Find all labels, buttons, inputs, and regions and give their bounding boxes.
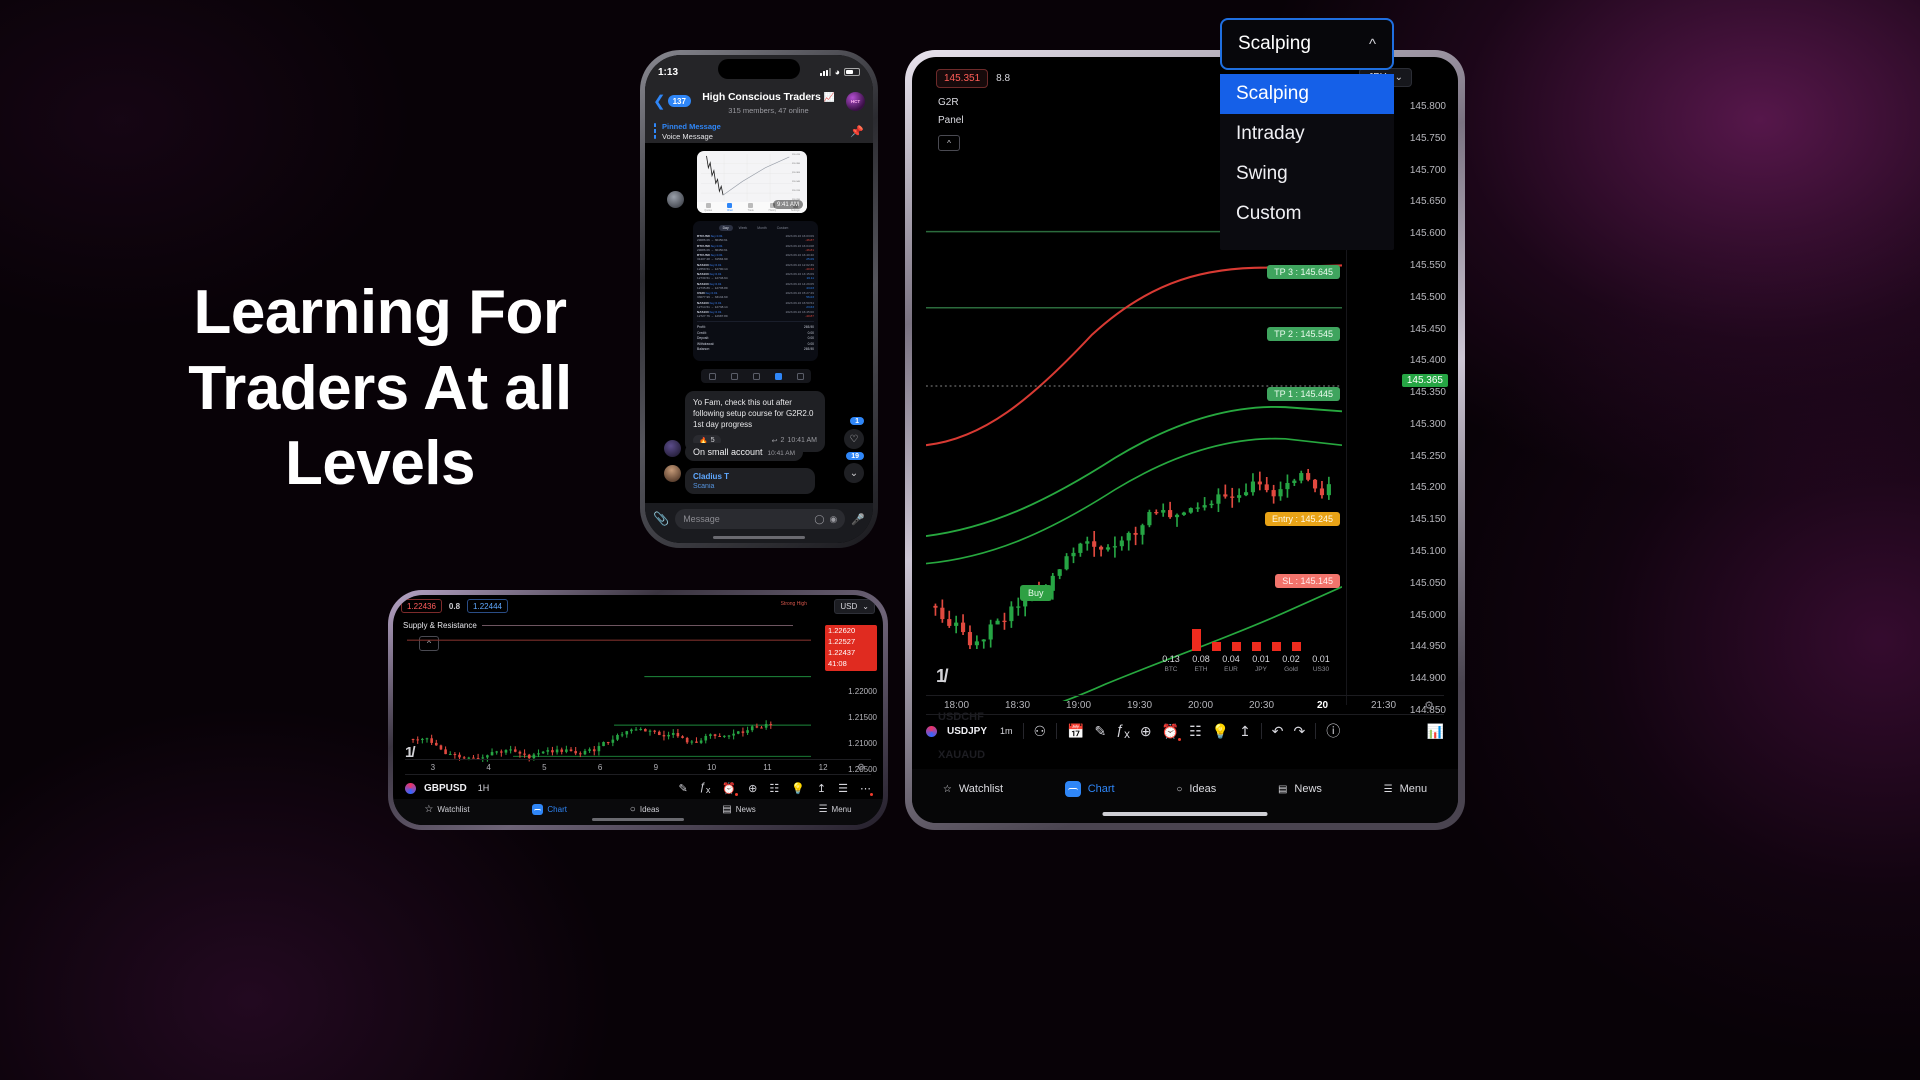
strength-bars: [1160, 629, 1332, 651]
timeframe[interactable]: 1m: [1000, 726, 1013, 736]
message-text: Yo Fam, check this out after following s…: [693, 397, 817, 430]
history-tabs: Day Week Month Custom: [693, 221, 818, 234]
chevron-down-icon: ⌄: [1395, 72, 1403, 83]
draw-icon[interactable]: ✎: [678, 782, 687, 795]
bid-price[interactable]: 1.22436: [401, 599, 442, 613]
phone-screen: 1.22436 0.8 1.22444 USD ⌄ Supply & Resis…: [393, 595, 883, 825]
time-label: 19:30: [1109, 700, 1170, 711]
signal-bars-icon: [820, 68, 831, 76]
message-input[interactable]: Message ◯ ◉: [675, 509, 845, 529]
axis-label: 151.315: [792, 190, 805, 192]
menu-icon: ☰: [1384, 784, 1393, 795]
layouts-icon[interactable]: ☷: [1189, 723, 1202, 740]
add-icon[interactable]: ⊕: [1140, 723, 1152, 740]
dropdown-selected-value: Scalping: [1238, 33, 1311, 55]
chat-header: ❮ 137 High Conscious Traders 📈 315 membe…: [645, 83, 873, 119]
time-label: 18:00: [926, 700, 987, 711]
axis-label: 145.800: [1410, 101, 1446, 112]
phone-screen: 1:13 ◕ ❮ 137 High Conscious Traders 📈 31…: [645, 55, 873, 543]
entry-label: Entry : 145.245: [1265, 512, 1340, 526]
history-tab: Month: [753, 225, 770, 231]
chevron-down-icon: ⌄: [862, 602, 869, 611]
spread-value: 8.8: [996, 73, 1010, 84]
star-icon: ☆: [424, 804, 433, 815]
candle-chart[interactable]: [407, 635, 811, 765]
symbol-flag-icon: [926, 726, 937, 737]
table-row: NAS100 buy 0.012023.06.16 16:50:5412714.…: [693, 301, 818, 309]
share-icon[interactable]: ↥: [817, 782, 826, 795]
nav-label: Chart: [547, 805, 567, 814]
axis-label: 145.150: [1410, 514, 1446, 525]
chat-title-text: High Conscious Traders: [702, 91, 821, 103]
add-icon[interactable]: ⊕: [748, 782, 757, 795]
headline-line-1: Learning For: [60, 275, 700, 351]
chart-icon: [1065, 781, 1081, 797]
axis-label: 144.900: [1410, 673, 1446, 684]
indicators-icon[interactable]: ƒx: [1116, 721, 1130, 741]
time-label: 12: [795, 763, 851, 772]
sticker-icon[interactable]: ◉: [829, 514, 837, 525]
calendar-icon[interactable]: 📅: [1067, 723, 1084, 740]
axis-label: 144.950: [1410, 641, 1446, 652]
strategy-dropdown[interactable]: Scalping ^ ScalpingIntradaySwingCustom: [1220, 18, 1394, 250]
share-icon[interactable]: ↥: [1239, 723, 1251, 740]
alert-price: 1.22527: [828, 637, 874, 648]
nav-item-menu[interactable]: ☰Menu: [819, 804, 852, 815]
nav-item-watchlist[interactable]: ☆Watchlist: [424, 804, 469, 815]
axis-label: 145.600: [1410, 228, 1446, 239]
undo-icon[interactable]: ↶: [1272, 723, 1284, 740]
tradingview-logo-icon: 1/: [936, 666, 946, 687]
chat-title-block[interactable]: High Conscious Traders 📈 315 members, 47…: [691, 87, 846, 115]
strength-value: 0.04: [1220, 654, 1242, 664]
nav-item-chart[interactable]: Chart: [532, 804, 567, 815]
microphone-icon[interactable]: 🎤: [851, 513, 865, 526]
strength-value: 0.08: [1190, 654, 1212, 664]
redo-icon[interactable]: ↷: [1294, 723, 1306, 740]
paperclip-icon[interactable]: 📎: [653, 511, 669, 527]
spread-value: 0.8: [449, 602, 460, 611]
time-label: 19:00: [1048, 700, 1109, 711]
symbol-name[interactable]: GBPUSD: [424, 783, 467, 794]
strength-key: BTC: [1160, 666, 1182, 673]
table-row: NAS100 buy 0.012023.06.16 12:02:3912659.…: [693, 263, 818, 271]
pin-icon[interactable]: 📌: [850, 125, 864, 138]
table-row: NAS100 buy 0.012023.06.16 16:45:0012727.…: [693, 310, 818, 318]
nav-item-watchlist[interactable]: ☆Watchlist: [943, 783, 1003, 795]
ideas-icon[interactable]: 💡: [791, 782, 805, 795]
dropdown-option-scalping[interactable]: Scalping: [1220, 74, 1394, 114]
pin-indicator: [654, 123, 656, 139]
strong-high-label: Strong High: [781, 601, 807, 607]
chat-bubble[interactable]: Cladius T Scania: [685, 468, 815, 494]
indicator-row[interactable]: Supply & Resistance: [403, 621, 793, 630]
pinned-label: Pinned Message: [662, 122, 850, 131]
price-axis[interactable]: 1.22620 1.22527 1.22437 41:08 1.22000 1.…: [815, 625, 877, 765]
history-tab: Custom: [773, 225, 793, 231]
chevron-left-icon: ❮: [653, 94, 666, 109]
nav-item-news[interactable]: ▤News: [722, 804, 755, 815]
axis-label: 145.000: [1410, 610, 1446, 621]
alert-icon[interactable]: ⏰: [722, 782, 736, 795]
strength-meter: 0.130.080.040.010.020.01 BTCETHEURJPYGol…: [1160, 629, 1332, 673]
axis-label: 145.650: [1410, 196, 1446, 207]
sl-label: SL : 145.145: [1275, 574, 1340, 588]
strength-value: 0.01: [1250, 654, 1272, 664]
time-axis[interactable]: 18:0018:3019:0019:3020:0020:302021:30⚙: [926, 695, 1444, 715]
chat-bubble[interactable]: On small account 10:41 AM: [685, 443, 803, 461]
strength-key: ETH: [1190, 666, 1212, 673]
slash-command-icon[interactable]: ◯: [814, 514, 824, 525]
axis-label: 145.700: [1410, 165, 1446, 176]
phone-chat-device: 1:13 ◕ ❮ 137 High Conscious Traders 📈 31…: [640, 50, 878, 548]
table-row: Profit:265.90: [693, 325, 818, 329]
axis-label: 151.415: [792, 154, 805, 156]
currency-label: USD: [840, 602, 857, 611]
chevron-up-icon: ^: [1369, 36, 1376, 53]
axis-label: 145.400: [1410, 355, 1446, 366]
back-button[interactable]: ❮ 137: [653, 94, 691, 109]
news-icon: ▤: [722, 804, 731, 815]
layouts-icon[interactable]: ☷: [769, 782, 779, 795]
time-label: 10: [684, 763, 740, 772]
symbol-flag-icon: [405, 783, 416, 794]
nav-label: Watchlist: [959, 783, 1003, 795]
dropdown-option-swing[interactable]: Swing: [1220, 154, 1394, 194]
alert-icon[interactable]: ⏰: [1162, 723, 1179, 740]
sender-name: Cladius T: [693, 472, 807, 481]
mini-tab: Chart: [727, 203, 733, 212]
message-text: On small account: [693, 447, 763, 457]
strength-value: 0.01: [1310, 654, 1332, 664]
news-icon: ▤: [1278, 784, 1287, 795]
nav-item-news[interactable]: ▤News: [1278, 783, 1322, 795]
ideas-icon[interactable]: 💡: [1212, 723, 1229, 740]
table-row: BTCUSD buy 0.012023.06.16 16:40:4031207.…: [693, 253, 818, 261]
history-rows: BTCUSD buy 0.012023.06.16 16:03:0929086.…: [693, 234, 818, 318]
nav-label: News: [1294, 783, 1322, 795]
avatar: [667, 191, 684, 208]
layouts-icon: [775, 373, 782, 380]
bottom-navigation[interactable]: ☆WatchlistChart○Ideas▤News☰Menu: [393, 799, 883, 825]
scroll-down-icon[interactable]: ⌄: [844, 463, 864, 483]
chart-emoji-icon: 📈: [824, 92, 835, 102]
draw-icon: [709, 373, 716, 380]
axis-label: 145.350: [1410, 387, 1446, 398]
history-totals: Profit:265.90Credit:0.00Deposit:0.00With…: [693, 325, 818, 351]
heart-badge: 1: [850, 417, 864, 425]
axis-label: 151.390: [792, 163, 805, 165]
bulb-icon: ○: [1176, 784, 1182, 795]
info-icon[interactable]: ⓘ: [1326, 721, 1340, 741]
ghost-symbol: XAUAUD: [938, 749, 985, 761]
message-image-history[interactable]: Day Week Month Custom BTCUSD buy 0.01202…: [693, 221, 818, 361]
message-placeholder: Message: [683, 514, 809, 524]
strength-key: EUR: [1220, 666, 1242, 673]
headline-line-2: Traders At all: [60, 351, 700, 427]
mini-toolbar: [701, 369, 811, 383]
indicators-icon: [731, 373, 738, 380]
time-label: 4: [461, 763, 517, 772]
group-avatar[interactable]: HCT: [846, 92, 865, 111]
phone-chart-device: 1.22436 0.8 1.22444 USD ⌄ Supply & Resis…: [388, 590, 888, 830]
history-tab: Week: [735, 225, 752, 231]
toolbar-icons: ✎ ƒx ⏰ ⊕ ☷ 💡 ↥ ☰ ⋯: [678, 781, 871, 795]
star-icon: ☆: [943, 784, 952, 795]
chat-message-list[interactable]: 151.415 151.390 151.365 151.340 151.315 …: [645, 143, 873, 503]
axis-label: 151.340: [792, 181, 805, 183]
settings-icon: [797, 373, 804, 380]
nav-label: News: [736, 805, 756, 814]
live-price-label: 145.365: [1402, 374, 1448, 387]
countdown: 41:08: [828, 659, 874, 670]
axis-label: 1.21500: [848, 713, 877, 722]
message-image-chart[interactable]: 151.415 151.390 151.365 151.340 151.315 …: [697, 151, 807, 213]
indicator-label: Supply & Resistance: [403, 621, 477, 630]
notch: [718, 59, 800, 79]
pinned-message-bar[interactable]: Pinned Message Voice Message 📌: [645, 119, 873, 143]
table-row: NAS100 buy 0.012023.06.16 14:29:0512735.…: [693, 282, 818, 290]
axis-label: 145.500: [1410, 292, 1446, 303]
timeframe[interactable]: 1H: [478, 783, 490, 793]
indicator-line: [482, 625, 793, 626]
strength-keys: BTCETHEURJPYGoldUS30: [1160, 666, 1332, 673]
nav-item-chart[interactable]: Chart: [1065, 781, 1115, 797]
history-tab: Day: [719, 225, 733, 231]
chart-icon: [532, 804, 543, 815]
bulb-icon: ○: [630, 804, 636, 815]
avatar: [664, 440, 681, 457]
table-row: BTCUSD buy 0.012023.06.16 16:03:0929086.…: [693, 234, 818, 242]
time-label: 20: [1292, 700, 1353, 711]
chart-toolbar: USDJPY 1m ⚇ 📅 ✎ ƒx ⊕ ⏰ ☷ 💡 ↥ ↶ ↷ ⓘ 📊: [926, 717, 1444, 745]
table-row: Deposit:0.00: [693, 336, 818, 340]
symbol-name[interactable]: USDJPY: [947, 726, 987, 737]
chart-top-bar: 1.22436 0.8 1.22444 USD ⌄: [393, 595, 883, 617]
nav-label: Menu: [832, 805, 852, 814]
currency-selector[interactable]: USD ⌄: [834, 599, 875, 614]
axis-label: 145.550: [1410, 260, 1446, 271]
compare-icon[interactable]: ☰: [838, 782, 848, 795]
time-label: 20:00: [1170, 700, 1231, 711]
mini-tab: Trade: [748, 203, 754, 212]
alert-icon: [753, 373, 760, 380]
axis-label: 151.365: [792, 172, 805, 174]
message-time: 9:41 AM: [773, 200, 803, 209]
table-row: US30 buy 0.012023.06.16 15:27:4933077.99…: [693, 291, 818, 299]
avatar: [664, 465, 681, 482]
axis-label: 1.22000: [848, 687, 877, 696]
axis-label: 145.250: [1410, 451, 1446, 462]
draw-icon[interactable]: ✎: [1095, 723, 1107, 740]
pin-text: Pinned Message Voice Message: [662, 122, 850, 141]
chart-toolbar: GBPUSD 1H ✎ ƒx ⏰ ⊕ ☷ 💡 ↥ ☰ ⋯: [405, 777, 871, 799]
nav-item-menu[interactable]: ☰Menu: [1384, 783, 1428, 795]
home-indicator: [1103, 812, 1268, 816]
indicators-icon[interactable]: ƒx: [700, 781, 711, 795]
axis-label: 145.100: [1410, 546, 1446, 557]
axis-label: 145.750: [1410, 133, 1446, 144]
axis-label: 145.200: [1410, 482, 1446, 493]
message-time: 10:41 AM: [768, 450, 795, 457]
strength-key: JPY: [1250, 666, 1272, 673]
nav-label: Ideas: [1189, 783, 1216, 795]
chat-title: High Conscious Traders 📈: [702, 91, 835, 103]
time-axis[interactable]: 34569101112⚙: [405, 759, 871, 775]
axis-label: 145.050: [1410, 578, 1446, 589]
tp3-label: TP 3 : 145.645: [1267, 265, 1340, 279]
nav-label: Menu: [1400, 783, 1428, 795]
tp1-label: TP 1 : 145.445: [1267, 387, 1340, 401]
buy-signal-badge: Buy: [1020, 585, 1052, 601]
nav-label: Ideas: [640, 805, 660, 814]
alert-price: 1.22620: [828, 626, 874, 637]
time-label: 20:30: [1231, 700, 1292, 711]
dropdown-option-custom[interactable]: Custom: [1220, 194, 1394, 234]
dropdown-option-intraday[interactable]: Intraday: [1220, 114, 1394, 154]
more-icon[interactable]: ⋯: [860, 782, 871, 795]
strength-value: 0.13: [1160, 654, 1182, 664]
unread-badge: 137: [668, 95, 691, 107]
time-label: 5: [517, 763, 573, 772]
time-label: 6: [572, 763, 628, 772]
chat-subtitle: 315 members, 47 online: [691, 106, 846, 115]
wifi-icon: ◕: [835, 67, 840, 77]
settings-icon[interactable]: ⚙: [851, 762, 871, 773]
current-price[interactable]: 145.351: [936, 69, 988, 88]
ask-price[interactable]: 1.22444: [467, 599, 508, 613]
mini-tab: Quotes: [704, 203, 712, 212]
price-header: 145.351 8.8: [936, 69, 1010, 88]
time-label: 11: [740, 763, 796, 772]
nav-label: Chart: [1088, 783, 1115, 795]
time-label: 9: [628, 763, 684, 772]
strength-values: 0.130.080.040.010.020.01: [1160, 654, 1332, 664]
message-preview: Scania: [693, 483, 807, 490]
strength-key: Gold: [1280, 666, 1302, 673]
mini-chart-axis: 151.415 151.390 151.365 151.340 151.315 …: [792, 154, 805, 201]
table-row: Balance:265.90: [693, 347, 818, 351]
heart-icon[interactable]: ♡: [844, 429, 864, 449]
panel-title: G2R: [938, 97, 959, 108]
home-indicator: [592, 818, 684, 821]
strength-key: US30: [1310, 666, 1332, 673]
table-row: Credit:0.00: [693, 331, 818, 335]
table-row: BTCUSD buy 0.012023.06.16 16:04:0829086.…: [693, 244, 818, 252]
axis-label: 145.300: [1410, 419, 1446, 430]
candle-type-icon[interactable]: ⚇: [1034, 723, 1047, 740]
headline-line-3: Levels: [60, 426, 700, 502]
nav-item-ideas[interactable]: ○Ideas: [630, 804, 660, 815]
time-label: 18:30: [987, 700, 1048, 711]
bubble-row: On small account 10:41 AM: [693, 447, 795, 457]
battery-icon: [844, 68, 860, 76]
page-title: Learning For Traders At all Levels: [60, 275, 700, 502]
home-indicator: [713, 536, 805, 539]
dropdown-options[interactable]: ScalpingIntradaySwingCustom: [1220, 74, 1394, 250]
nav-item-ideas[interactable]: ○Ideas: [1176, 783, 1216, 795]
dropdown-toggle[interactable]: Scalping ^: [1220, 18, 1394, 70]
stats-icon[interactable]: 📊: [1427, 723, 1444, 740]
mini-chart: [701, 154, 793, 201]
nav-label: Watchlist: [437, 805, 469, 814]
alert-price-box: 1.22620 1.22527 1.22437 41:08: [825, 625, 877, 671]
divider: [697, 321, 814, 322]
time-label: 21:30: [1353, 700, 1414, 711]
strength-value: 0.02: [1280, 654, 1302, 664]
settings-icon[interactable]: ⚙: [1414, 699, 1444, 712]
table-row: Withdrawal:0.00: [693, 342, 818, 346]
pinned-value: Voice Message: [662, 132, 850, 141]
status-time: 1:13: [658, 67, 678, 78]
scroll-badge: 19: [846, 452, 864, 460]
table-row: NAS100 buy 0.012023.06.16 13:15:0912730.…: [693, 272, 818, 280]
axis-label: 1.21000: [848, 739, 877, 748]
tp2-label: TP 2 : 145.545: [1267, 327, 1340, 341]
menu-icon: ☰: [819, 804, 828, 815]
axis-label: 145.450: [1410, 324, 1446, 335]
status-icons: ◕: [820, 67, 860, 77]
alert-price: 1.22437: [828, 648, 874, 659]
time-label: 3: [405, 763, 461, 772]
